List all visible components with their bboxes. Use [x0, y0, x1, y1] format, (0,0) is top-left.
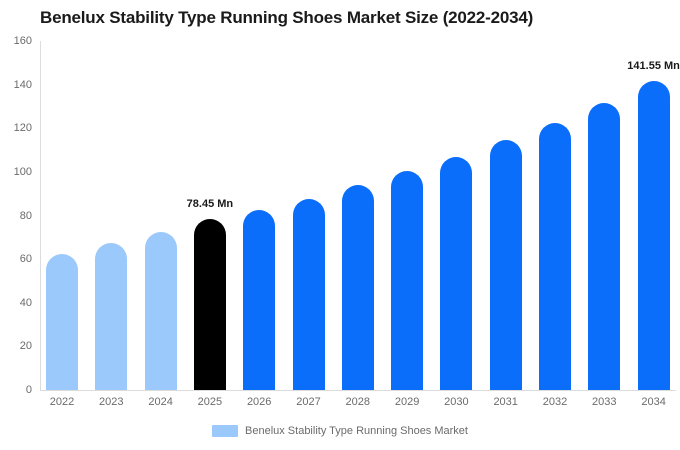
bar[interactable]	[194, 219, 226, 390]
bar-group	[440, 41, 472, 390]
bar-group	[293, 41, 325, 390]
bar[interactable]	[391, 171, 423, 390]
bar[interactable]	[539, 123, 571, 390]
bar[interactable]	[342, 185, 374, 390]
bar[interactable]	[95, 243, 127, 390]
chart-legend: Benelux Stability Type Running Shoes Mar…	[0, 425, 680, 437]
bar[interactable]	[588, 103, 620, 390]
bar-group	[243, 41, 275, 390]
bar[interactable]	[638, 81, 670, 390]
y-tick-label: 20	[0, 340, 32, 352]
y-tick-label: 100	[0, 166, 32, 178]
x-axis-line	[40, 390, 676, 391]
bar-chart: Benelux Stability Type Running Shoes Mar…	[0, 0, 680, 450]
legend-item[interactable]: Benelux Stability Type Running Shoes Mar…	[212, 425, 468, 437]
bar-group	[490, 41, 522, 390]
y-tick-label: 0	[0, 384, 32, 396]
y-tick-label: 80	[0, 210, 32, 222]
legend-swatch	[212, 425, 238, 437]
bar[interactable]	[46, 254, 78, 390]
bar[interactable]	[243, 210, 275, 390]
bar-group	[588, 41, 620, 390]
bar-group	[46, 41, 78, 390]
bar[interactable]	[293, 199, 325, 390]
plot-area	[40, 41, 676, 390]
legend-label: Benelux Stability Type Running Shoes Mar…	[245, 425, 468, 437]
bar-group	[145, 41, 177, 390]
x-tick-label: 2034	[624, 396, 680, 408]
chart-title: Benelux Stability Type Running Shoes Mar…	[40, 8, 533, 28]
bar-group	[95, 41, 127, 390]
bar-group	[342, 41, 374, 390]
bar[interactable]	[440, 157, 472, 390]
bar-group	[539, 41, 571, 390]
y-tick-label: 120	[0, 122, 32, 134]
bar-group	[194, 41, 226, 390]
y-tick-label: 140	[0, 79, 32, 91]
y-tick-label: 60	[0, 253, 32, 265]
bar[interactable]	[145, 232, 177, 390]
y-tick-label: 40	[0, 297, 32, 309]
bar-group	[391, 41, 423, 390]
bar[interactable]	[490, 140, 522, 390]
bar-value-label: 141.55 Mn	[627, 60, 680, 72]
bar-value-label: 78.45 Mn	[187, 198, 233, 210]
bar-group	[638, 41, 670, 390]
y-tick-label: 160	[0, 35, 32, 47]
